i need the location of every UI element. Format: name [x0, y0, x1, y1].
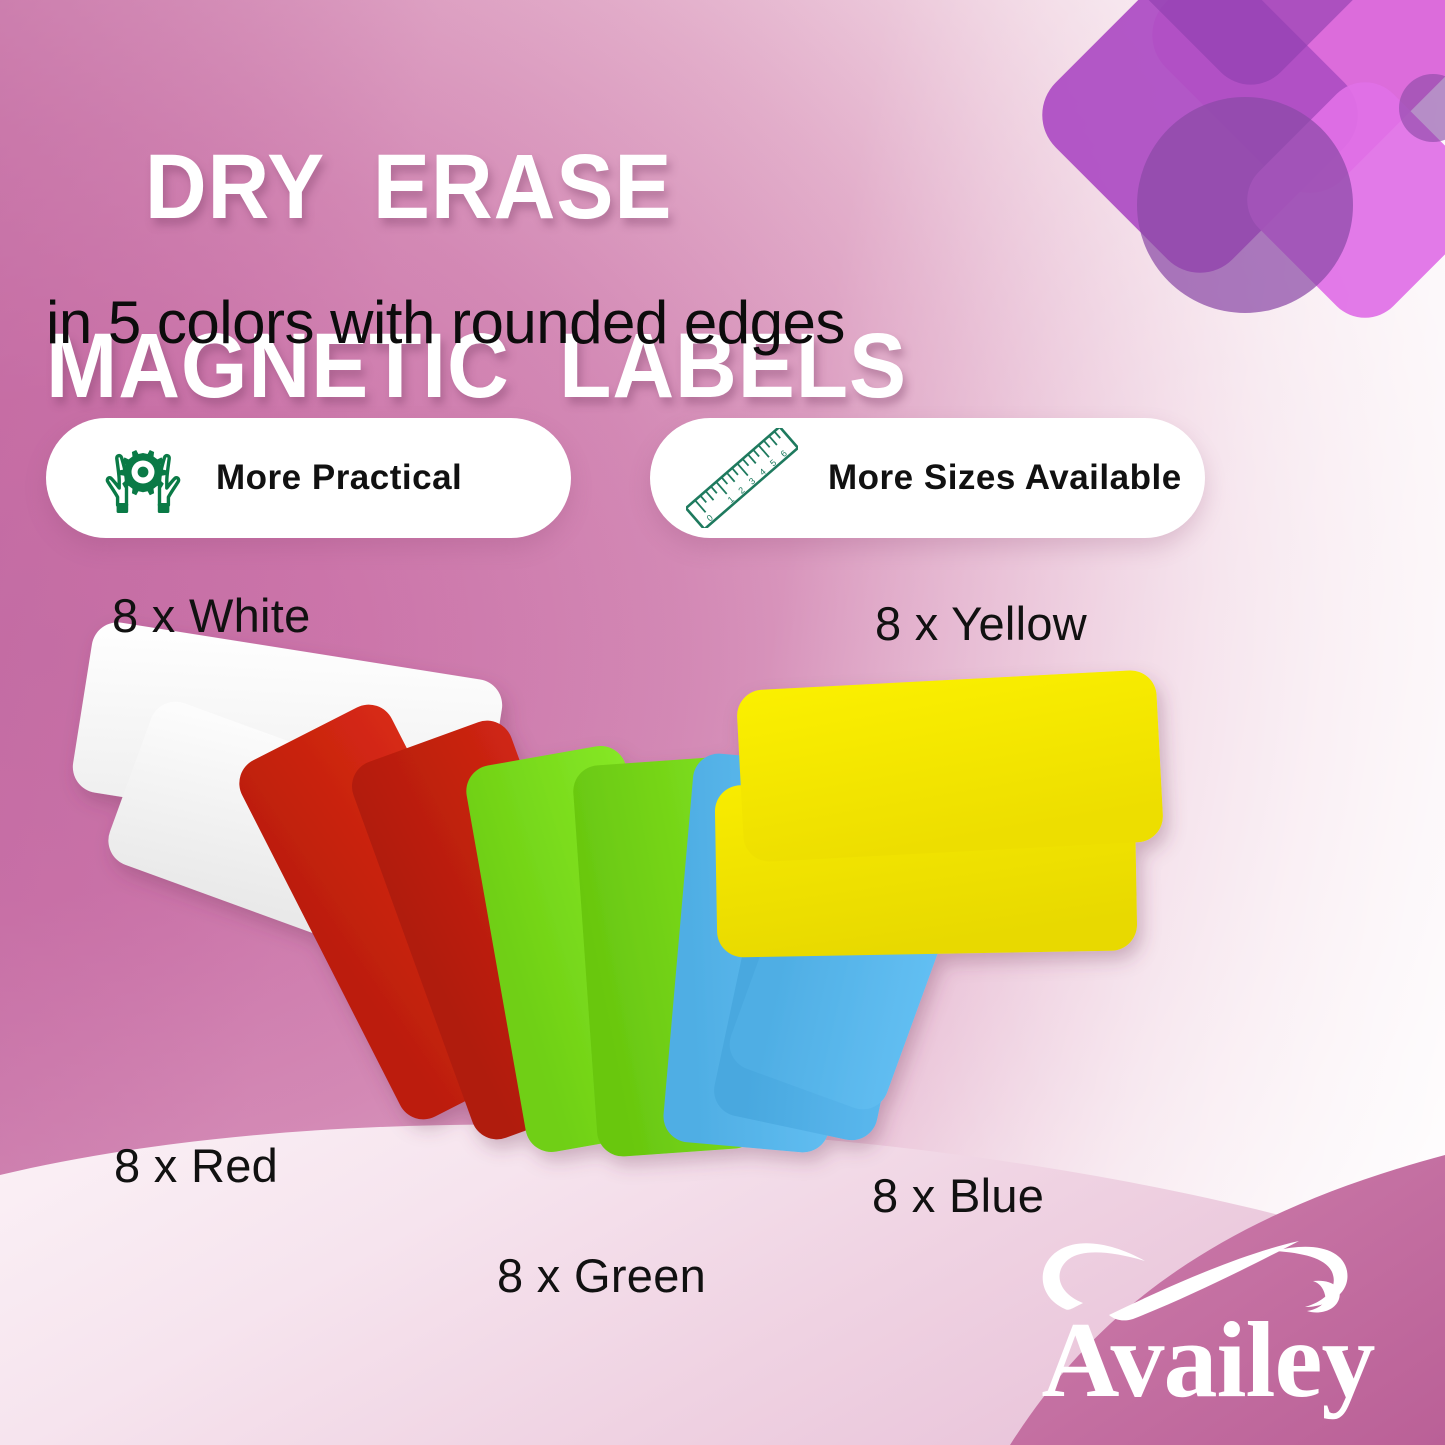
color-label-red: 8 x Red [114, 1138, 278, 1193]
brand-name: Availey [1013, 1307, 1403, 1415]
color-label-white: 8 x White [112, 588, 311, 643]
color-label-blue: 8 x Blue [872, 1168, 1044, 1223]
label-card-yellow [736, 669, 1164, 863]
color-label-green: 8 x Green [497, 1248, 706, 1303]
brand-logo: Availey [1013, 1227, 1403, 1417]
color-label-yellow: 8 x Yellow [875, 596, 1087, 651]
infographic-canvas: DRY ERASE MAGNETIC LABELS in 5 colors wi… [0, 0, 1445, 1445]
